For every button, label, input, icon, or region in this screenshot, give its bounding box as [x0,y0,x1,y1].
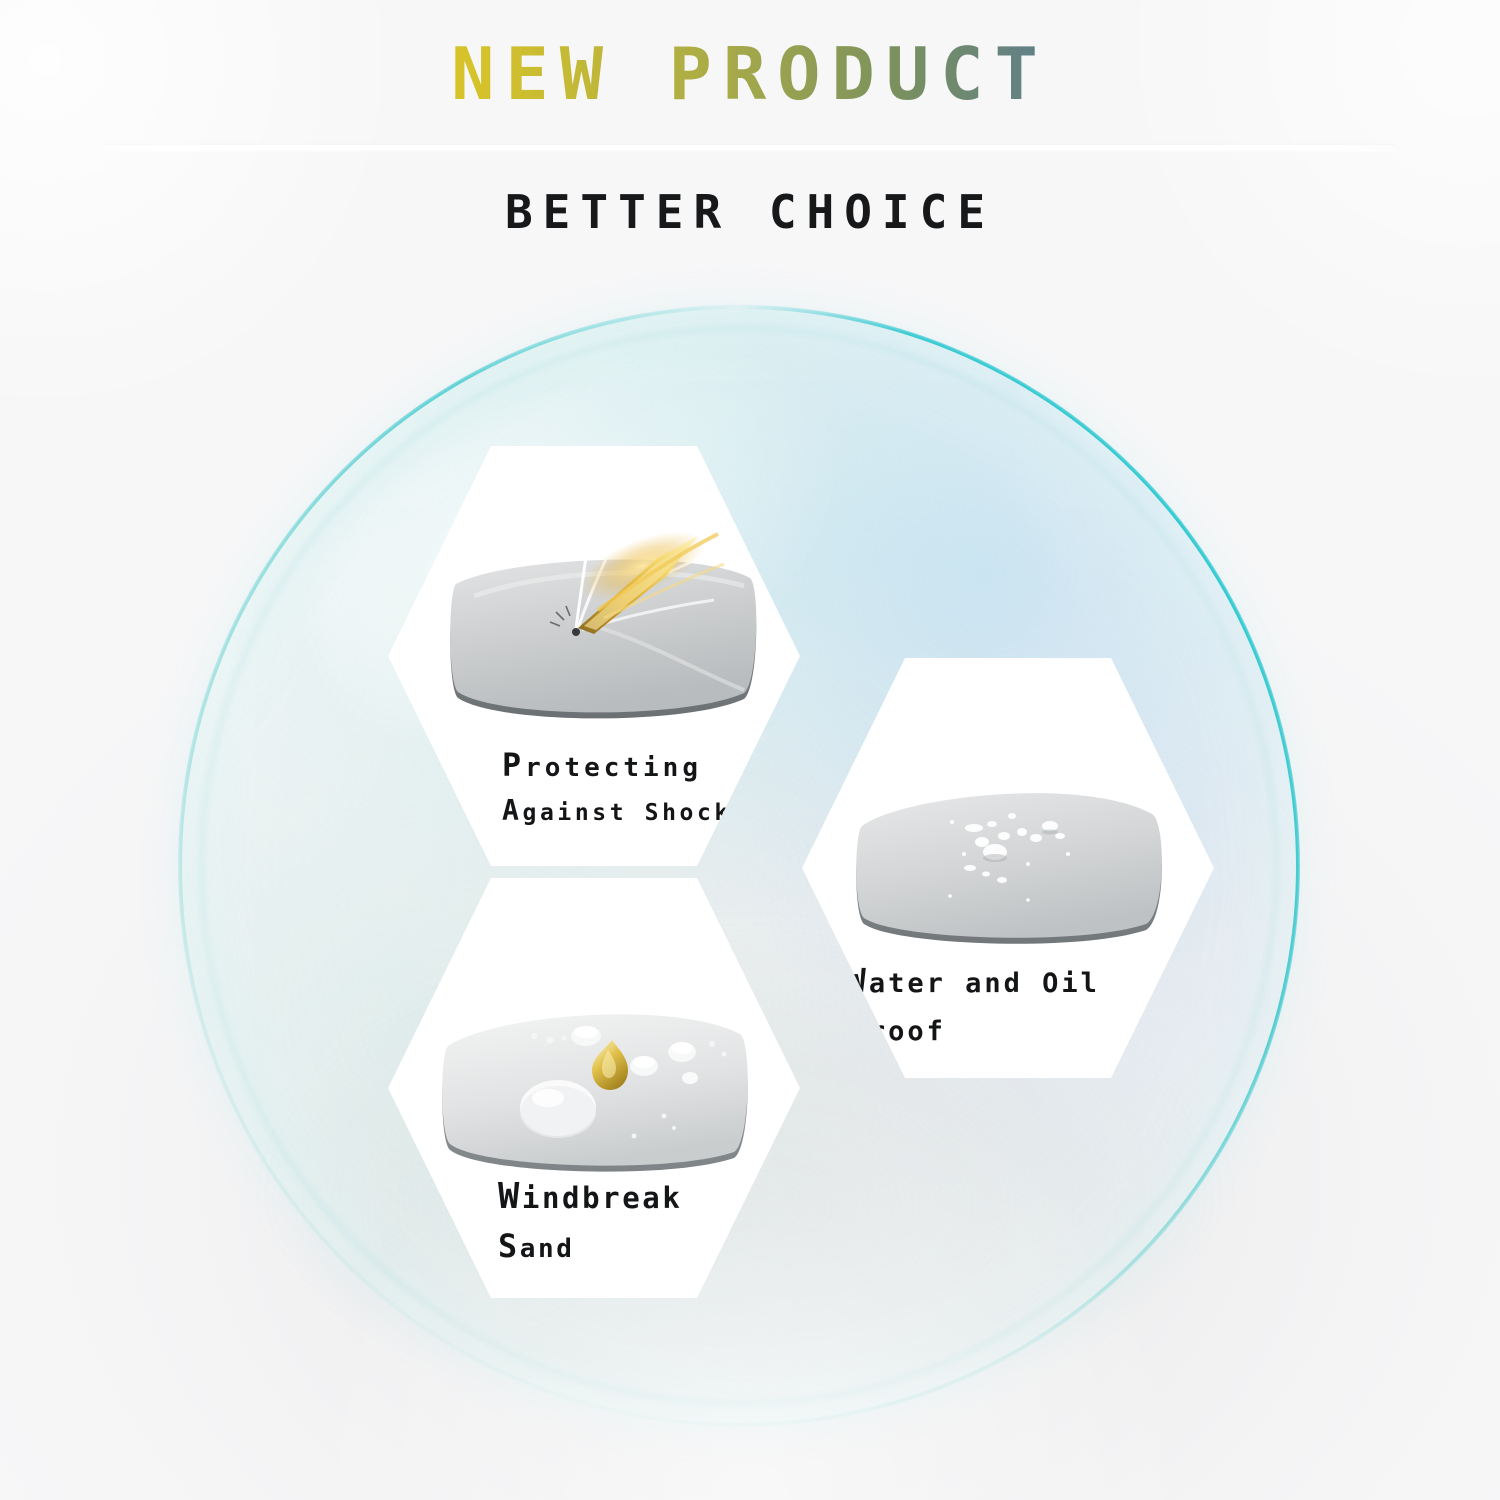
lens-water-droplets-icon [852,776,1174,954]
page-subtitle: BETTER CHOICE [0,185,1500,239]
page-title: NEW PRODUCT [0,38,1500,110]
product-poster: NEW PRODUCT BETTER CHOICE [0,0,1500,1500]
lens-shock-icon [444,538,764,728]
title-divider [102,145,1395,150]
lens-oil-droplet-icon [438,996,760,1178]
